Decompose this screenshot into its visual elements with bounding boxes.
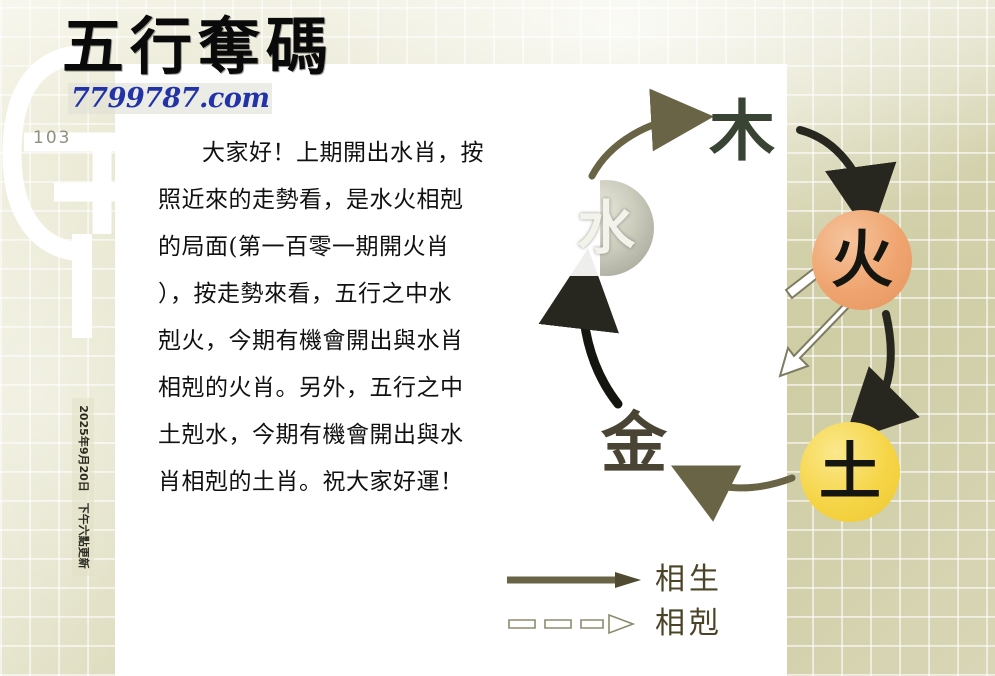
article-line: 剋火，今期有機會開出與水肖	[158, 318, 518, 365]
legend-row-generating: 相生	[505, 558, 765, 602]
article-line: 土剋水，今期有機會開出與水	[158, 412, 518, 459]
arrow-metal-generates-water	[583, 284, 618, 404]
arrow-water-generates-wood	[592, 118, 686, 176]
update-timestamp: 2025年9月20日 下午六點更新	[72, 398, 94, 576]
page-number: 103	[33, 128, 71, 148]
solid-arrow-icon	[505, 569, 647, 591]
legend-label-generating: 相生	[655, 565, 723, 595]
site-domain-label[interactable]: 7799787.com	[68, 83, 272, 114]
article-body: 大家好！上期開出水肖，按 照近來的走勢看，是水火相剋 的局面(第一百零一期開火肖…	[158, 130, 518, 506]
article-line: 大家好！上期開出水肖，按	[158, 130, 518, 177]
element-node-metal: 金	[595, 410, 673, 476]
element-node-water: 水	[558, 180, 654, 276]
page-title: 五行奪碼	[62, 16, 334, 78]
article-line: ），按走勢來看，五行之中水	[158, 271, 518, 318]
arrow-earth-generates-metal	[696, 478, 792, 488]
wuxing-diagram: 木 火 土 金 水	[500, 70, 995, 610]
article-line: 相剋的火肖。另外，五行之中	[158, 365, 518, 412]
article-line: 照近來的走勢看，是水火相剋	[158, 177, 518, 224]
element-node-fire: 火	[812, 210, 912, 310]
element-node-earth: 土	[800, 422, 900, 522]
legend-label-overcoming: 相剋	[655, 609, 723, 639]
element-node-wood: 木	[703, 98, 781, 164]
legend-row-overcoming: 相剋	[505, 602, 765, 646]
arrow-fire-overcomes-metal	[780, 294, 852, 376]
page-root: 五行奪碼 7799787.com 103 2025年9月20日 下午六點更新 大…	[0, 0, 995, 676]
article-line: 的局面(第一百零一期開火肖	[158, 224, 518, 271]
element-node-water-label: 水	[577, 199, 635, 257]
arrow-wood-generates-fire	[800, 130, 866, 206]
article-line: 肖相剋的土肖。祝大家好運！	[158, 459, 518, 506]
diagram-legend: 相生 相剋	[505, 558, 765, 646]
arrow-fire-generates-earth	[866, 314, 891, 420]
outline-arrow-icon	[505, 613, 647, 635]
